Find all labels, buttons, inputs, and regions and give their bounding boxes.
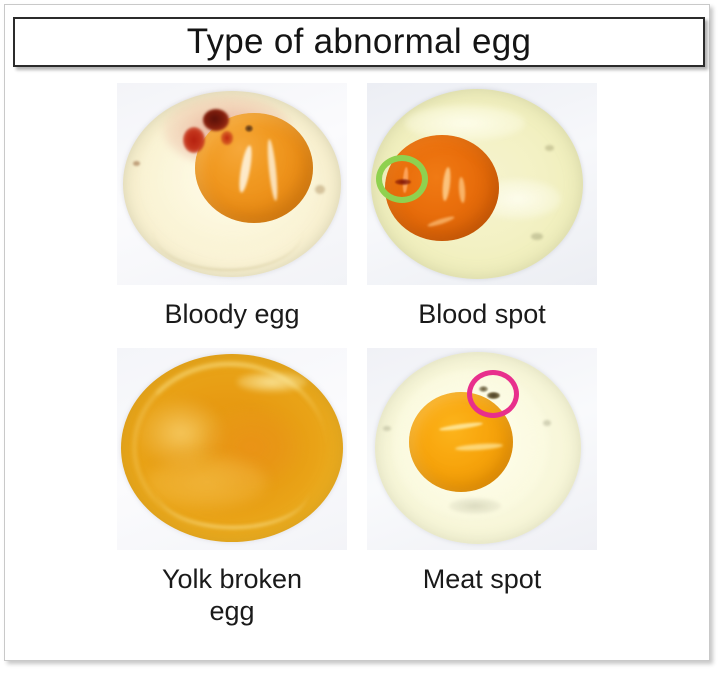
panel-grid: Bloody egg Blood spot xyxy=(13,83,705,658)
blood-clot xyxy=(245,125,253,132)
panel-yolk-broken-egg: Yolk broken egg xyxy=(117,348,347,628)
magenta-circle-annotation xyxy=(467,370,519,418)
figure-title-box: Type of abnormal egg xyxy=(13,17,705,67)
caption-bloody-egg: Bloody egg xyxy=(117,299,347,331)
photo-yolk-broken-egg xyxy=(117,348,347,550)
debris-speck xyxy=(543,420,551,426)
panel-blood-spot: Blood spot xyxy=(367,83,597,331)
caption-blood-spot: Blood spot xyxy=(367,299,597,331)
debris-speck xyxy=(133,161,140,166)
blood-clot xyxy=(183,127,205,153)
figure-frame: Type of abnormal egg Bloody egg xyxy=(4,4,710,661)
panel-meat-spot: Meat spot xyxy=(367,348,597,596)
dish-rim-highlight xyxy=(157,452,309,529)
photo-blood-spot xyxy=(367,83,597,285)
debris-speck xyxy=(531,233,543,240)
albumen-texture xyxy=(449,498,501,514)
blood-clot xyxy=(221,131,233,145)
photo-bloody-egg xyxy=(117,83,347,285)
debris-speck xyxy=(315,185,325,194)
caption-yolk-broken-egg: Yolk broken egg xyxy=(117,564,347,628)
figure-title: Type of abnormal egg xyxy=(187,22,532,62)
caption-meat-spot: Meat spot xyxy=(367,564,597,596)
blood-clot xyxy=(203,109,229,131)
albumen-swirl xyxy=(405,105,525,141)
debris-speck xyxy=(545,145,554,151)
surface-highlight xyxy=(237,372,307,392)
panel-bloody-egg: Bloody egg xyxy=(117,83,347,331)
photo-meat-spot xyxy=(367,348,597,550)
debris-speck xyxy=(383,426,391,431)
green-circle-annotation xyxy=(376,155,428,203)
